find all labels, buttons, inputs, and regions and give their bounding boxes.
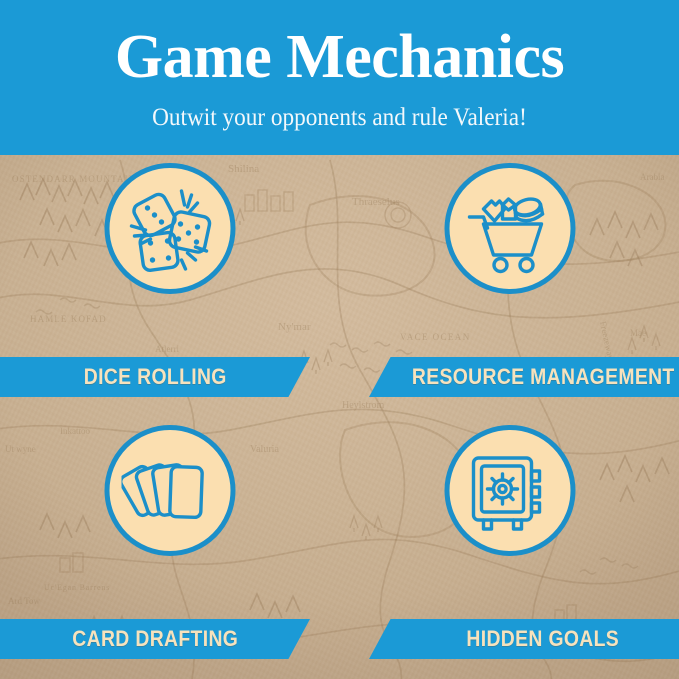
mechanic-card-dice-rolling[interactable]: DICE ROLLING: [0, 157, 339, 419]
safe-badge: [444, 425, 575, 556]
dice-rolling-banner[interactable]: DICE ROLLING: [0, 357, 310, 397]
mechanic-label: HIDDEN GOALS: [467, 626, 620, 652]
cart-badge: [444, 163, 575, 294]
page-title: Game Mechanics: [115, 26, 564, 88]
resource-management-banner[interactable]: RESOURCE MANAGEMENT: [369, 357, 679, 397]
header-banner: Game Mechanics Outwit your opponents and…: [0, 0, 679, 155]
game-mechanics-poster: OSTENDARR MOUNTAINS Shilina Hamlin Thrae…: [0, 0, 679, 679]
mechanic-label: RESOURCE MANAGEMENT: [412, 364, 675, 390]
card-drafting-banner[interactable]: CARD DRAFTING: [0, 619, 310, 659]
cards-badge: [104, 425, 235, 556]
hidden-goals-banner[interactable]: HIDDEN GOALS: [369, 619, 679, 659]
mechanic-card-hidden-goals[interactable]: HIDDEN GOALS: [340, 419, 679, 679]
shopping-cart-icon: [462, 181, 558, 277]
mechanic-label: DICE ROLLING: [84, 364, 227, 390]
dice-badge: [104, 163, 235, 294]
page-subtitle: Outwit your opponents and rule Valeria!: [152, 105, 527, 130]
dice-icon: [122, 181, 218, 277]
mechanic-label: CARD DRAFTING: [72, 626, 238, 652]
mechanic-card-resource-management[interactable]: RESOURCE MANAGEMENT: [340, 157, 679, 419]
safe-vault-icon: [462, 443, 558, 539]
card-fan-icon: [122, 443, 218, 539]
mechanic-card-card-drafting[interactable]: CARD DRAFTING: [0, 419, 339, 679]
